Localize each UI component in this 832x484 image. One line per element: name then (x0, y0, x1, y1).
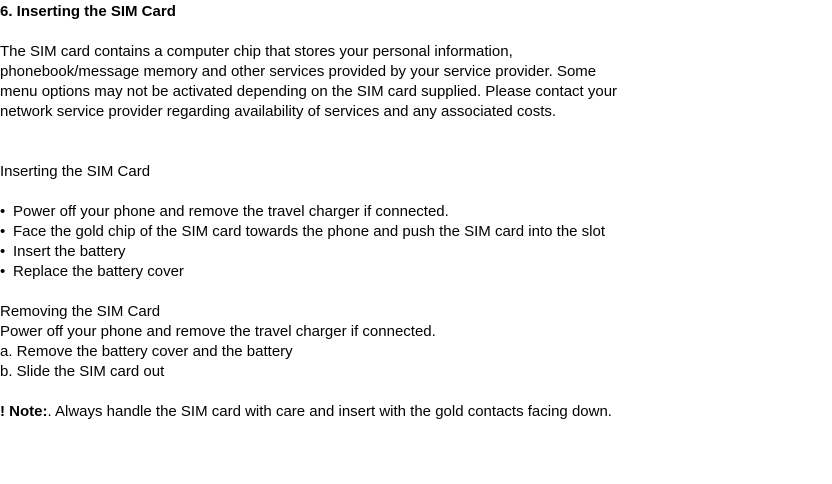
spacer-after-heading (0, 22, 832, 42)
list-item: •Insert the battery (0, 242, 832, 262)
removing-step-line: Power off your phone and remove the trav… (0, 322, 832, 342)
list-item-label: Power off your phone and remove the trav… (13, 203, 449, 220)
list-item-label: Insert the battery (13, 243, 126, 260)
removing-section-title: Removing the SIM Card (0, 302, 832, 322)
note-text: . Always handle the SIM card with care a… (48, 403, 612, 420)
inserting-bullet-list: •Power off your phone and remove the tra… (0, 202, 832, 282)
document-body: 6. Inserting the SIM Card The SIM card c… (0, 0, 832, 422)
removing-section: Removing the SIM Card Power off your pho… (0, 302, 832, 382)
spacer-blank (0, 282, 832, 302)
bullet-icon: • (0, 222, 13, 242)
note-callout: ! Note:. Always handle the SIM card with… (0, 402, 832, 422)
intro-paragraph: The SIM card contains a computer chip th… (0, 42, 832, 122)
note-label: ! Note: (0, 403, 48, 420)
bullet-icon: • (0, 242, 13, 262)
removing-step-line: a. Remove the battery cover and the batt… (0, 342, 832, 362)
bullet-icon: • (0, 202, 13, 222)
bullet-icon: • (0, 262, 13, 282)
inserting-section-title: Inserting the SIM Card (0, 162, 832, 182)
list-item-label: Face the gold chip of the SIM card towar… (13, 223, 605, 240)
intro-paragraph-line: network service provider regarding avail… (0, 102, 832, 122)
list-item: •Replace the battery cover (0, 262, 832, 282)
list-item: •Power off your phone and remove the tra… (0, 202, 832, 222)
page-title: 6. Inserting the SIM Card (0, 2, 832, 22)
spacer-blank (0, 182, 832, 202)
list-item-label: Replace the battery cover (13, 263, 184, 280)
document-page: 6. Inserting the SIM Card The SIM card c… (0, 0, 832, 484)
list-item: •Face the gold chip of the SIM card towa… (0, 222, 832, 242)
intro-paragraph-line: phonebook/message memory and other servi… (0, 62, 832, 82)
spacer-blank (0, 142, 832, 162)
spacer-blank (0, 122, 832, 142)
intro-paragraph-line: The SIM card contains a computer chip th… (0, 42, 832, 62)
spacer-blank (0, 382, 832, 402)
removing-step-line: b. Slide the SIM card out (0, 362, 832, 382)
intro-paragraph-line: menu options may not be activated depend… (0, 82, 832, 102)
